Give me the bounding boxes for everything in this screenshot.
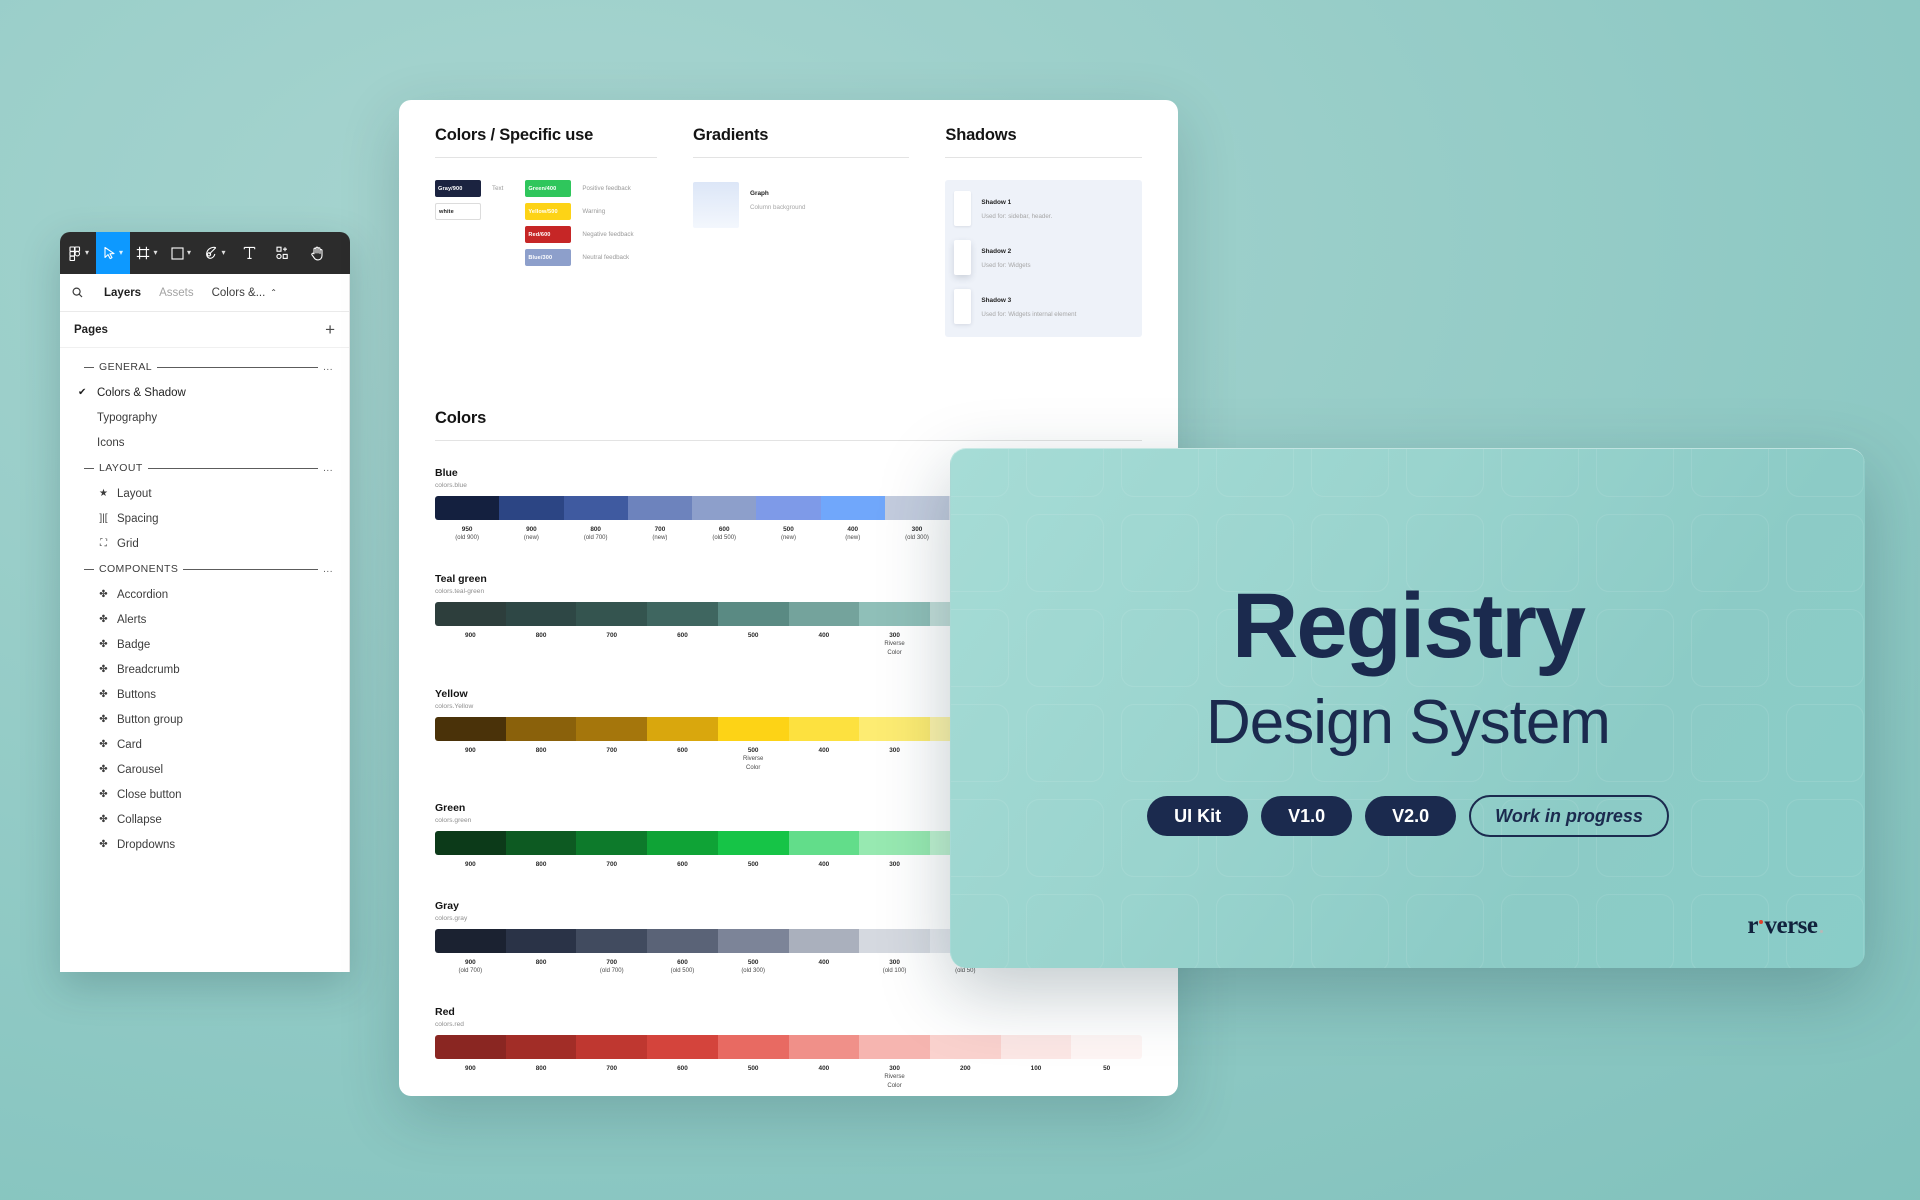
palette-stop-label: 600: [647, 1064, 718, 1091]
palette-stop-label: 400: [789, 860, 860, 869]
page-type-icon: ✤: [97, 839, 110, 850]
logo-trailing-dot-icon: [1820, 930, 1824, 934]
palette-stop-label: 900: [435, 1064, 506, 1091]
sidebar-page-item[interactable]: ✤Button group: [60, 707, 349, 732]
sidebar-page-item[interactable]: ✤Badge: [60, 632, 349, 657]
section-divider: [945, 157, 1142, 158]
divider-line: [157, 367, 318, 368]
palette-swatch[interactable]: [1071, 1035, 1142, 1059]
section-title: Colors / Specific use: [435, 126, 657, 145]
palette-swatch[interactable]: [647, 831, 718, 855]
page-type-icon: ★: [97, 488, 110, 499]
divider-dots: ...: [323, 362, 333, 373]
palette-swatch[interactable]: [789, 929, 860, 953]
pages-group-label: LAYOUT: [99, 462, 143, 474]
gradient-description: Column background: [750, 204, 805, 211]
section-divider: [435, 157, 657, 158]
add-page-button[interactable]: +: [325, 321, 335, 338]
section-gradients: Gradients GraphColumn background: [675, 126, 927, 337]
palette-stop-label: 600: [647, 860, 718, 869]
color-swatch[interactable]: white: [435, 203, 481, 220]
palette-swatch[interactable]: [435, 717, 506, 741]
hero-badge[interactable]: Work in progress: [1469, 795, 1669, 837]
palette-swatch[interactable]: [576, 929, 647, 953]
divider-dash: [84, 468, 94, 469]
palette-stop-label: 300(old 100): [859, 958, 930, 976]
palette-stop-sublabel: (old 700): [564, 534, 628, 543]
color-swatch[interactable]: Gray/900: [435, 180, 481, 197]
palette-stop-sublabel: (old 700): [576, 967, 647, 976]
palette-stop-label: 50: [1071, 1064, 1142, 1091]
palette-stop-label: 800: [506, 958, 577, 976]
shadow-item: Shadow 3Used for: Widgets internal eleme…: [954, 289, 1133, 324]
palette-swatch[interactable]: [564, 496, 628, 520]
palette-labels: 900800700600500400300RiverseColor2001005…: [435, 1064, 1142, 1091]
sidebar-page-label: Spacing: [117, 513, 159, 525]
palette-stop-label: 500(old 300): [718, 958, 789, 976]
sidebar-page-label: Grid: [117, 538, 139, 550]
palette-swatch[interactable]: [506, 1035, 577, 1059]
shadow-name: Shadow 3: [981, 297, 1011, 304]
palette-stop-label: 950(old 900): [435, 525, 499, 543]
palette-swatch[interactable]: [756, 496, 820, 520]
palette-stop-label: 100: [1001, 1064, 1072, 1091]
section-title: Shadows: [945, 126, 1142, 145]
chevron-down-icon[interactable]: ▾: [119, 249, 123, 257]
sidebar-page-item[interactable]: Typography: [60, 405, 349, 430]
shadow-name: Shadow 2: [981, 248, 1011, 255]
tab-assets[interactable]: Assets: [150, 287, 203, 299]
palette-stop-label: 400(new): [821, 525, 885, 543]
palette-swatch[interactable]: [435, 602, 506, 626]
palette-swatch[interactable]: [506, 929, 577, 953]
palette-swatch[interactable]: [930, 1035, 1001, 1059]
palette-stop-sublabel: (old 700): [435, 967, 506, 976]
page-type-icon: ⛶: [97, 538, 110, 549]
palette-stop-label: 500: [718, 860, 789, 869]
shadow-name: Shadow 1: [981, 199, 1011, 206]
page-type-icon: ✤: [97, 664, 110, 675]
color-usage-label: Neutral feedback: [582, 254, 629, 261]
sidebar-page-label: Icons: [97, 437, 125, 449]
palette-swatch[interactable]: [506, 831, 577, 855]
sidebar-page-label: Alerts: [117, 614, 146, 626]
page-type-icon: ✤: [97, 814, 110, 825]
palette-stop-label: 700: [576, 1064, 647, 1091]
page-type-icon: ✤: [97, 739, 110, 750]
palette-stop-label: 600: [647, 631, 718, 658]
gradients-list: GraphColumn background: [693, 182, 909, 228]
palette-stop-label: 700(old 700): [576, 958, 647, 976]
sidebar-page-label: Buttons: [117, 689, 156, 701]
palette-swatch[interactable]: [859, 602, 930, 626]
palette-stop-label: 600(old 500): [647, 958, 718, 976]
pages-header-row: Pages +: [60, 312, 349, 348]
palette-swatch[interactable]: [789, 1035, 860, 1059]
section-title: Colors: [435, 409, 1142, 428]
figma-left-panel: Layers Assets Colors &... ⌃ Pages + GENE…: [60, 274, 350, 972]
color-usage-row: Gray/900Text: [435, 180, 503, 197]
palette-swatch[interactable]: [718, 831, 789, 855]
components-tool-icon[interactable]: [266, 232, 300, 274]
page-selector-label: Colors &...: [212, 287, 266, 299]
palette-swatch[interactable]: [576, 717, 647, 741]
figma-menu-icon[interactable]: ▾: [62, 232, 96, 274]
palette-stop-label: 500RiverseColor: [718, 746, 789, 773]
sidebar-page-label: Button group: [117, 714, 183, 726]
section-title: Gradients: [693, 126, 909, 145]
palette-stop-sublabel: (old 500): [647, 967, 718, 976]
palette-swatch[interactable]: [435, 496, 499, 520]
hero-badges: UI KitV1.0V2.0Work in progress: [1147, 795, 1669, 837]
page-type-icon: ]|[: [97, 513, 110, 524]
sidebar-page-item[interactable]: ⛶Grid: [60, 531, 349, 556]
section-shadows: Shadows Shadow 1Used for: sidebar, heade…: [927, 126, 1160, 337]
palette-stop-label: 300RiverseColor: [859, 1064, 930, 1091]
pages-group-label: COMPONENTS: [99, 563, 178, 575]
section-colors-specific-use: Colors / Specific use Gray/900Textwhite …: [417, 126, 675, 337]
gradient-swatch[interactable]: [693, 182, 739, 228]
shadow-swatch[interactable]: [954, 289, 971, 324]
sidebar-page-label: Carousel: [117, 764, 163, 776]
color-usage-row: Blue/300Neutral feedback: [525, 249, 633, 266]
palette-stop-label: 900(old 700): [435, 958, 506, 976]
search-icon[interactable]: [72, 287, 83, 298]
page-type-icon: ✤: [97, 764, 110, 775]
palette-stop-label: 300(old 300): [885, 525, 949, 543]
sidebar-page-item[interactable]: ✤Alerts: [60, 607, 349, 632]
palette-swatch[interactable]: [789, 831, 860, 855]
palette-reverse-color-note: RiverseColor: [859, 1073, 930, 1090]
specific-use-right-column: Green/400Positive feedbackYellow/500Warn…: [525, 180, 633, 266]
shape-tool-icon[interactable]: ▾: [164, 232, 198, 274]
logo-text-r: r: [1747, 912, 1758, 940]
shadow-item: Shadow 1Used for: sidebar, header.: [954, 191, 1133, 226]
palette-stop-label: 200: [930, 1064, 1001, 1091]
palette-swatch[interactable]: [718, 602, 789, 626]
palette-stop-sublabel: (new): [756, 534, 820, 543]
color-usage-row: white: [435, 203, 503, 220]
palette-stop-sublabel: (old 300): [718, 967, 789, 976]
text-tool-icon[interactable]: [232, 232, 266, 274]
color-swatch[interactable]: Yellow/500: [525, 203, 571, 220]
palette-swatch[interactable]: [789, 602, 860, 626]
palette-stop-sublabel: (old 100): [859, 967, 930, 976]
palette-swatch[interactable]: [647, 929, 718, 953]
sidebar-page-label: Badge: [117, 639, 150, 651]
palette-stop-label: 900: [435, 746, 506, 773]
page-type-icon: ✤: [97, 689, 110, 700]
palette-stop-label: 400: [789, 1064, 860, 1091]
palette-swatch[interactable]: [576, 1035, 647, 1059]
figma-application-window: ▾ ▾ ▾ ▾ ▾: [60, 232, 350, 972]
hero-title: Registry: [1232, 580, 1584, 672]
palette-swatch[interactable]: [718, 929, 789, 953]
divider-line: [148, 468, 319, 469]
color-palette: Redcolors.red900800700600500400300Rivers…: [435, 1006, 1142, 1091]
sidebar-page-label: Dropdowns: [117, 839, 175, 851]
sidebar-page-item[interactable]: ✤Close button: [60, 782, 349, 807]
palette-token: colors.red: [435, 1021, 1142, 1028]
gradient-item: GraphColumn background: [693, 182, 909, 228]
palette-swatch[interactable]: [628, 496, 692, 520]
pages-title: Pages: [74, 324, 108, 336]
divider-dash: [84, 367, 94, 368]
move-tool-icon[interactable]: ▾: [96, 232, 130, 274]
palette-stop-label: 400: [789, 958, 860, 976]
figma-toolbar: ▾ ▾ ▾ ▾ ▾: [60, 232, 350, 274]
palette-stop-label: 800: [506, 860, 577, 869]
panel-tab-bar: Layers Assets Colors &... ⌃: [60, 274, 349, 312]
palette-swatch[interactable]: [859, 831, 930, 855]
section-divider: [435, 440, 1142, 441]
palette-swatch[interactable]: [576, 602, 647, 626]
section-divider: [693, 157, 909, 158]
sidebar-page-item[interactable]: ★Layout: [60, 481, 349, 506]
sidebar-page-item[interactable]: ✤Carousel: [60, 757, 349, 782]
palette-stop-label: 700(new): [628, 525, 692, 543]
top-sections-row: Colors / Specific use Gray/900Textwhite …: [399, 100, 1178, 337]
color-usage-label: Negative feedback: [582, 231, 633, 238]
palette-swatch[interactable]: [435, 929, 506, 953]
color-usage-row: Yellow/500Warning: [525, 203, 633, 220]
color-swatch[interactable]: Green/400: [525, 180, 571, 197]
palette-swatch[interactable]: [718, 1035, 789, 1059]
pages-group-divider: LAYOUT...: [60, 455, 349, 481]
sidebar-page-item[interactable]: ✤Collapse: [60, 807, 349, 832]
logo-accent-dot-icon: [1759, 920, 1764, 925]
sidebar-page-label: Layout: [117, 488, 152, 500]
color-usage-label: Positive feedback: [582, 185, 631, 192]
color-swatch[interactable]: Blue/300: [525, 249, 571, 266]
hero-badge[interactable]: UI Kit: [1147, 796, 1248, 836]
chevron-down-icon[interactable]: ▾: [221, 249, 225, 257]
chevron-down-icon[interactable]: ▾: [153, 249, 157, 257]
frame-tool-icon[interactable]: ▾: [130, 232, 164, 274]
palette-swatch[interactable]: [789, 717, 860, 741]
palette-swatch[interactable]: [859, 1035, 930, 1059]
palette-swatch[interactable]: [499, 496, 563, 520]
palette-swatch[interactable]: [859, 717, 930, 741]
palette-stop-label: 400: [789, 746, 860, 773]
pages-list: GENERAL...✔Colors & ShadowTypographyIcon…: [60, 348, 349, 857]
divider-dots: ...: [323, 463, 333, 474]
sidebar-page-item[interactable]: ✤Card: [60, 732, 349, 757]
palette-stop-label: 800: [506, 746, 577, 773]
palette-stop-label: 500: [718, 1064, 789, 1091]
palette-stop-label: 300: [859, 860, 930, 869]
color-usage-label: Text: [492, 185, 503, 192]
palette-stop-label: 700: [576, 631, 647, 658]
sidebar-page-label: Colors & Shadow: [97, 387, 186, 399]
sidebar-page-item[interactable]: ✤Buttons: [60, 682, 349, 707]
palette-swatch[interactable]: [885, 496, 949, 520]
riverse-logo: r verse: [1747, 912, 1823, 940]
palette-swatch[interactable]: [692, 496, 756, 520]
palette-stop-label: 800: [506, 631, 577, 658]
palette-stop-sublabel: (new): [821, 534, 885, 543]
sidebar-page-item[interactable]: ✤Breadcrumb: [60, 657, 349, 682]
color-usage-row: Red/600Negative feedback: [525, 226, 633, 243]
page-selector[interactable]: Colors &... ⌃: [203, 287, 286, 299]
palette-stop-label: 900: [435, 631, 506, 658]
sidebar-page-label: Typography: [97, 412, 157, 424]
palette-swatch[interactable]: [576, 831, 647, 855]
palette-name: Red: [435, 1006, 1142, 1018]
palette-stop-label: 300RiverseColor: [859, 631, 930, 658]
tab-layers[interactable]: Layers: [95, 287, 150, 299]
shadow-item: Shadow 2Used for: Widgets: [954, 240, 1133, 275]
palette-swatch[interactable]: [647, 717, 718, 741]
divider-dots: ...: [323, 564, 333, 575]
pages-group-divider: GENERAL...: [60, 354, 349, 380]
divider-dash: [84, 569, 94, 570]
sidebar-page-label: Breadcrumb: [117, 664, 180, 676]
specific-use-left-column: Gray/900Textwhite: [435, 180, 503, 266]
palette-stop-sublabel: (new): [499, 534, 563, 543]
sidebar-page-item[interactable]: ✔Colors & Shadow: [60, 380, 349, 405]
hero-content: Registry Design System UI KitV1.0V2.0Wor…: [951, 449, 1865, 968]
sidebar-page-item[interactable]: Icons: [60, 430, 349, 455]
palette-bar: [435, 1035, 1142, 1059]
page-type-icon: ✤: [97, 789, 110, 800]
palette-stop-sublabel: (new): [628, 534, 692, 543]
palette-stop-sublabel: (old 300): [885, 534, 949, 543]
shadow-description: Used for: Widgets: [981, 262, 1030, 269]
sidebar-page-item[interactable]: ]|[Spacing: [60, 506, 349, 531]
sidebar-page-item[interactable]: ✤Accordion: [60, 582, 349, 607]
palette-stop-label: 700: [576, 746, 647, 773]
shadow-description: Used for: Widgets internal element: [981, 311, 1076, 318]
palette-stop-label: 300: [859, 746, 930, 773]
shadows-list: Shadow 1Used for: sidebar, header.Shadow…: [945, 180, 1142, 337]
page-type-icon: ✤: [97, 589, 110, 600]
chevron-up-icon: ⌃: [270, 288, 277, 297]
logo-text-verse: verse: [1764, 912, 1817, 940]
palette-swatch[interactable]: [435, 831, 506, 855]
sidebar-page-label: Accordion: [117, 589, 168, 601]
sidebar-page-item[interactable]: ✤Dropdowns: [60, 832, 349, 857]
palette-swatch[interactable]: [859, 929, 930, 953]
chevron-down-icon[interactable]: ▾: [85, 249, 89, 257]
palette-stop-label: 900(new): [499, 525, 563, 543]
palette-stop-label: 500: [718, 631, 789, 658]
palette-swatch[interactable]: [506, 717, 577, 741]
palette-swatch[interactable]: [435, 1035, 506, 1059]
palette-stop-label: 700: [576, 860, 647, 869]
hand-tool-icon[interactable]: [300, 232, 334, 274]
pages-group-label: GENERAL: [99, 361, 152, 373]
sidebar-page-label: Close button: [117, 789, 182, 801]
sidebar-page-label: Collapse: [117, 814, 162, 826]
pen-tool-icon[interactable]: ▾: [198, 232, 232, 274]
palette-stop-label: 600: [647, 746, 718, 773]
hero-subtitle: Design System: [1206, 686, 1610, 760]
palette-swatch[interactable]: [506, 602, 577, 626]
palette-stop-label: 500(new): [756, 525, 820, 543]
hero-badge[interactable]: V2.0: [1365, 796, 1456, 836]
palette-stop-label: 900: [435, 860, 506, 869]
palette-stop-sublabel: (old 900): [435, 534, 499, 543]
shadow-description: Used for: sidebar, header.: [981, 213, 1052, 220]
palette-stop-label: 600(old 500): [692, 525, 756, 543]
check-icon: ✔: [78, 387, 90, 398]
page-type-icon: ✤: [97, 714, 110, 725]
registry-hero-card: Registry Design System UI KitV1.0V2.0Wor…: [950, 448, 1865, 968]
palette-stop-sublabel: (old 500): [692, 534, 756, 543]
color-swatch[interactable]: Red/600: [525, 226, 571, 243]
gradient-name: Graph: [750, 190, 769, 197]
hero-badge[interactable]: V1.0: [1261, 796, 1352, 836]
palette-swatch[interactable]: [1001, 1035, 1072, 1059]
chevron-down-icon[interactable]: ▾: [187, 249, 191, 257]
divider-line: [183, 569, 318, 570]
palette-swatch[interactable]: [647, 1035, 718, 1059]
palette-swatch[interactable]: [647, 602, 718, 626]
page-type-icon: ✤: [97, 639, 110, 650]
palette-stop-label: 800(old 700): [564, 525, 628, 543]
palette-swatch[interactable]: [718, 717, 789, 741]
pages-group-divider: COMPONENTS...: [60, 556, 349, 582]
palette-stop-label: 400: [789, 631, 860, 658]
palette-reverse-color-note: RiverseColor: [859, 640, 930, 657]
sidebar-page-label: Card: [117, 739, 142, 751]
palette-reverse-color-note: RiverseColor: [718, 755, 789, 772]
shadow-swatch[interactable]: [954, 191, 971, 226]
page-type-icon: ✤: [97, 614, 110, 625]
color-usage-row: Green/400Positive feedback: [525, 180, 633, 197]
palette-stop-sublabel: (old 50): [930, 967, 1001, 976]
color-usage-label: Warning: [582, 208, 605, 215]
palette-swatch[interactable]: [821, 496, 885, 520]
shadow-swatch[interactable]: [954, 240, 971, 275]
palette-stop-label: 800: [506, 1064, 577, 1091]
